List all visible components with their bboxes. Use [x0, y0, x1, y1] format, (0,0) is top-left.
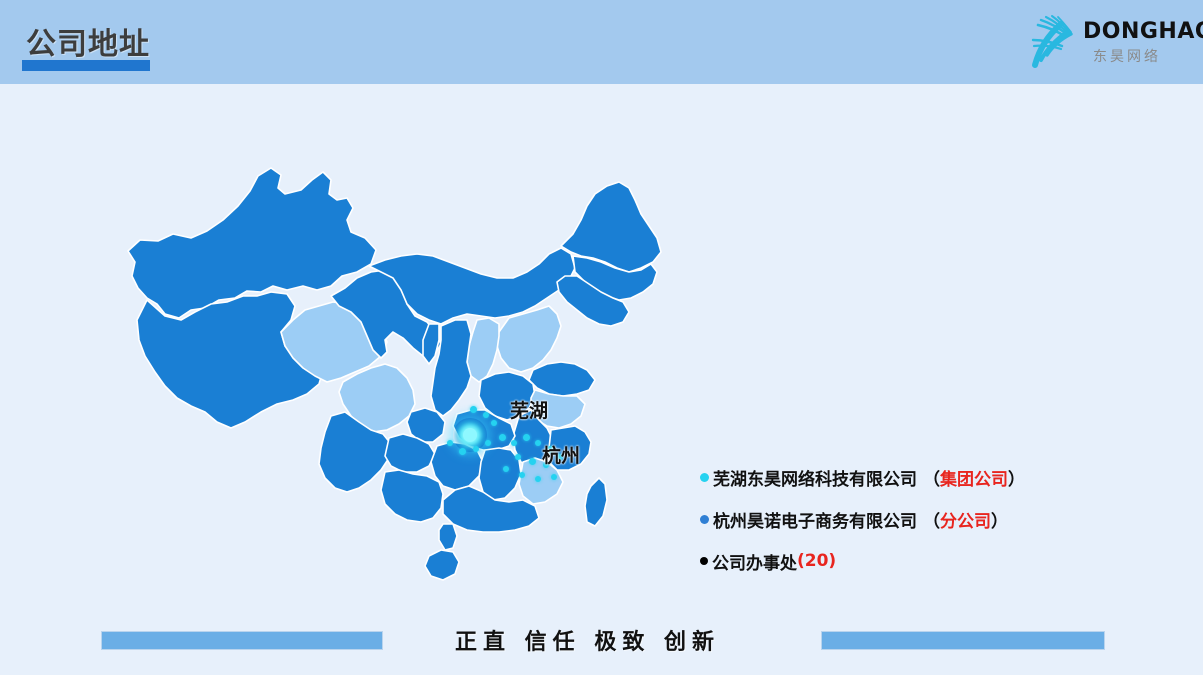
legend-item-offices[interactable]: 公司办事处 (20)	[700, 546, 1120, 576]
legend-item-count: (20)	[797, 551, 836, 571]
legend-item-branch-company[interactable]: 杭州昊诺电子商务有限公司 （ 分公司 ）	[700, 504, 1120, 534]
legend: 芜湖东昊网络科技有限公司 （ 集团公司 ） 杭州昊诺电子商务有限公司 （ 分公司…	[700, 462, 1120, 588]
map-region-guangxi	[381, 470, 443, 522]
legend-item-tag: 集团公司	[940, 465, 1008, 490]
footer-bar-right	[821, 631, 1105, 650]
office-dot[interactable]	[470, 406, 477, 413]
footer-bar-left	[101, 631, 383, 650]
office-dot[interactable]	[485, 440, 491, 446]
office-dot[interactable]	[447, 440, 453, 446]
office-dot[interactable]	[503, 466, 509, 472]
map-region-leizhou	[439, 524, 457, 550]
office-dot[interactable]	[535, 440, 541, 446]
legend-bullet-cyan-icon	[700, 473, 709, 482]
legend-item-group-company[interactable]: 芜湖东昊网络科技有限公司 （ 集团公司 ）	[700, 462, 1120, 492]
logo-wordmark: DONGHAO	[1083, 19, 1203, 44]
legend-item-label: 公司办事处	[712, 549, 797, 574]
legend-item-label: 杭州昊诺电子商务有限公司	[713, 507, 917, 532]
logo-subtitle: 东昊网络	[1093, 46, 1161, 66]
office-dot[interactable]	[551, 474, 557, 480]
legend-close-paren: ）	[991, 507, 1008, 532]
city-label-wuhu: 芜湖	[510, 396, 548, 423]
city-label-hangzhou: 杭州	[542, 441, 580, 468]
page-title: 公司地址	[26, 19, 150, 63]
map-region-hainan	[425, 550, 459, 580]
office-dot[interactable]	[473, 446, 479, 452]
china-map-svg	[95, 128, 695, 608]
map-region-shanxi	[467, 318, 499, 382]
office-dot[interactable]	[483, 412, 489, 418]
legend-open-paren: （	[923, 507, 940, 532]
office-dot[interactable]	[523, 434, 530, 441]
legend-bullet-blue-icon	[700, 515, 709, 524]
page-header: 公司地址 DONGHAO 东昊网络	[0, 0, 1203, 84]
footer-tagline: 正直 信任 极致 创新	[455, 624, 720, 656]
china-map[interactable]: 芜湖 杭州	[95, 128, 695, 608]
office-dot[interactable]	[459, 448, 466, 455]
office-dot[interactable]	[499, 434, 506, 441]
legend-item-label: 芜湖东昊网络科技有限公司	[713, 465, 917, 490]
office-dot[interactable]	[515, 454, 521, 460]
company-logo: DONGHAO 东昊网络	[1021, 8, 1189, 74]
title-underline-accent	[22, 60, 150, 71]
legend-open-paren: （	[923, 465, 940, 490]
office-dot[interactable]	[529, 458, 536, 465]
feather-wing-icon	[1021, 10, 1083, 72]
marker-wuhu-core[interactable]	[463, 428, 477, 442]
office-dot[interactable]	[535, 476, 541, 482]
map-region-taiwan	[585, 478, 607, 526]
office-dot[interactable]	[519, 472, 525, 478]
office-dot[interactable]	[511, 440, 517, 446]
office-dot[interactable]	[491, 420, 497, 426]
legend-bullet-black-icon	[700, 557, 708, 565]
legend-item-tag: 分公司	[940, 507, 991, 532]
legend-close-paren: ）	[1008, 465, 1025, 490]
